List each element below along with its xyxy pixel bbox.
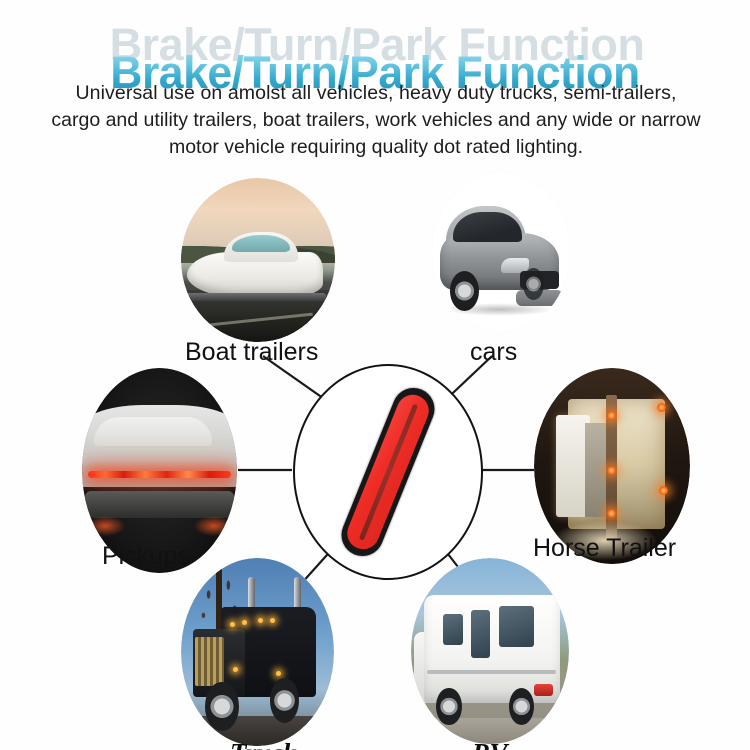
photo-car xyxy=(432,172,570,332)
page-subtitle: Universal use on amolst all vehicles, he… xyxy=(22,80,730,161)
photo-rv xyxy=(411,558,569,744)
label-pickups: Pickups xyxy=(102,542,190,571)
truck-marker-light-6 xyxy=(276,671,281,676)
photo-truck xyxy=(181,558,334,746)
product-infographic-page: Brake/Turn/Park Function Brake/Turn/Park… xyxy=(0,0,750,750)
rv-window-3 xyxy=(499,606,534,647)
truck-front-wheel xyxy=(205,682,239,731)
photo-boat-trailer xyxy=(181,178,335,342)
car-rear-wheel xyxy=(523,268,544,300)
label-boat-trailers: Boat trailers xyxy=(185,338,318,367)
truck-grille xyxy=(195,637,224,686)
node-cars[interactable] xyxy=(432,172,570,332)
rv-window-1 xyxy=(443,614,464,646)
led-glow-left xyxy=(85,516,125,537)
node-boat-trailers[interactable] xyxy=(181,178,335,342)
truck-marker-light-4 xyxy=(270,618,275,623)
rv-body-stripe xyxy=(427,670,557,674)
marker-light-5 xyxy=(659,486,668,495)
pickup-led-light-strip xyxy=(88,471,231,478)
boat-windshield xyxy=(232,235,291,251)
node-truck[interactable] xyxy=(181,558,334,746)
label-cars: cars xyxy=(470,338,517,367)
node-rv[interactable] xyxy=(411,558,569,744)
pickup-bumper xyxy=(85,491,234,518)
led-glow-right xyxy=(194,516,234,537)
vehicle-application-diagram: Boat trailers cars xyxy=(0,160,750,750)
truck-marker-light-1 xyxy=(230,622,235,627)
car-shadow xyxy=(443,303,556,316)
rv-window-2 xyxy=(471,610,490,658)
boat-trailer-frame xyxy=(184,293,326,301)
red-led-light-bar-icon xyxy=(335,382,441,563)
rv-tail-light xyxy=(534,684,553,695)
car-windshield xyxy=(453,212,522,242)
center-hub-product[interactable] xyxy=(293,364,483,580)
label-truck: Truck xyxy=(230,738,297,750)
rv-front-wheel xyxy=(436,688,461,725)
subtitle-line-2: cargo and utility trailers, boat trailer… xyxy=(22,107,730,134)
truck-rear-wheel xyxy=(270,678,299,723)
label-rv: RV xyxy=(472,738,508,750)
subtitle-line-1: Universal use on amolst all vehicles, he… xyxy=(22,80,730,107)
pickup-rear-window xyxy=(94,417,212,446)
truck-marker-light-3 xyxy=(258,618,263,623)
subtitle-line-3: motor vehicle requiring quality dot rate… xyxy=(22,134,730,161)
